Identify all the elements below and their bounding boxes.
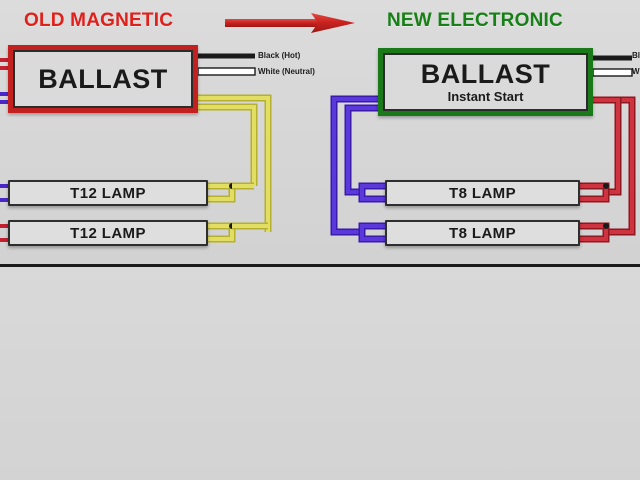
old-lamp-1: T12 LAMP [8, 180, 208, 206]
old-lamp-2-label: T12 LAMP [70, 225, 146, 242]
new-ballast-box: BALLAST Instant Start [378, 48, 593, 116]
old-lamp-1-label: T12 LAMP [70, 185, 146, 202]
new-red-wire-inner [593, 100, 618, 192]
old-ballast-box: BALLAST [8, 45, 198, 113]
lower-blank-panel [0, 267, 640, 480]
new-blue-wire-inner [348, 108, 378, 192]
new-lamp-1: T8 LAMP [385, 180, 580, 206]
screenshot-root: OLD MAGNETIC NEW ELECTRONIC [0, 0, 640, 480]
new-lamp-2-label: T8 LAMP [449, 225, 516, 242]
new-lamp-1-label: T8 LAMP [449, 185, 516, 202]
old-white-neutral-label: White (Neutral) [258, 67, 315, 76]
old-yellow-wire-inner [198, 107, 254, 186]
new-lamp2-junction-dot [603, 223, 609, 229]
new-red-wire-outer [593, 100, 632, 232]
wiring-diagram-canvas: OLD MAGNETIC NEW ELECTRONIC [0, 0, 640, 267]
old-yellow-wire-inner-core [198, 107, 254, 186]
new-ballast-sublabel: Instant Start [448, 90, 524, 103]
old-supply-white-wire [198, 68, 255, 75]
new-supply-white-wire [593, 69, 632, 76]
new-ballast-label: BALLAST [421, 61, 550, 88]
new-blue-wire-outer [334, 99, 378, 232]
new-ballast-inner: BALLAST Instant Start [383, 53, 588, 111]
old-lamp-2: T12 LAMP [8, 220, 208, 246]
old-ballast-label: BALLAST [38, 66, 167, 93]
new-black-hot-label: Bl [632, 51, 640, 60]
new-lamp-2: T8 LAMP [385, 220, 580, 246]
new-lamp1-junction-dot [603, 183, 609, 189]
old-black-hot-label: Black (Hot) [258, 51, 300, 60]
old-ballast-inner: BALLAST [13, 50, 193, 108]
new-white-neutral-label: W [632, 67, 640, 76]
